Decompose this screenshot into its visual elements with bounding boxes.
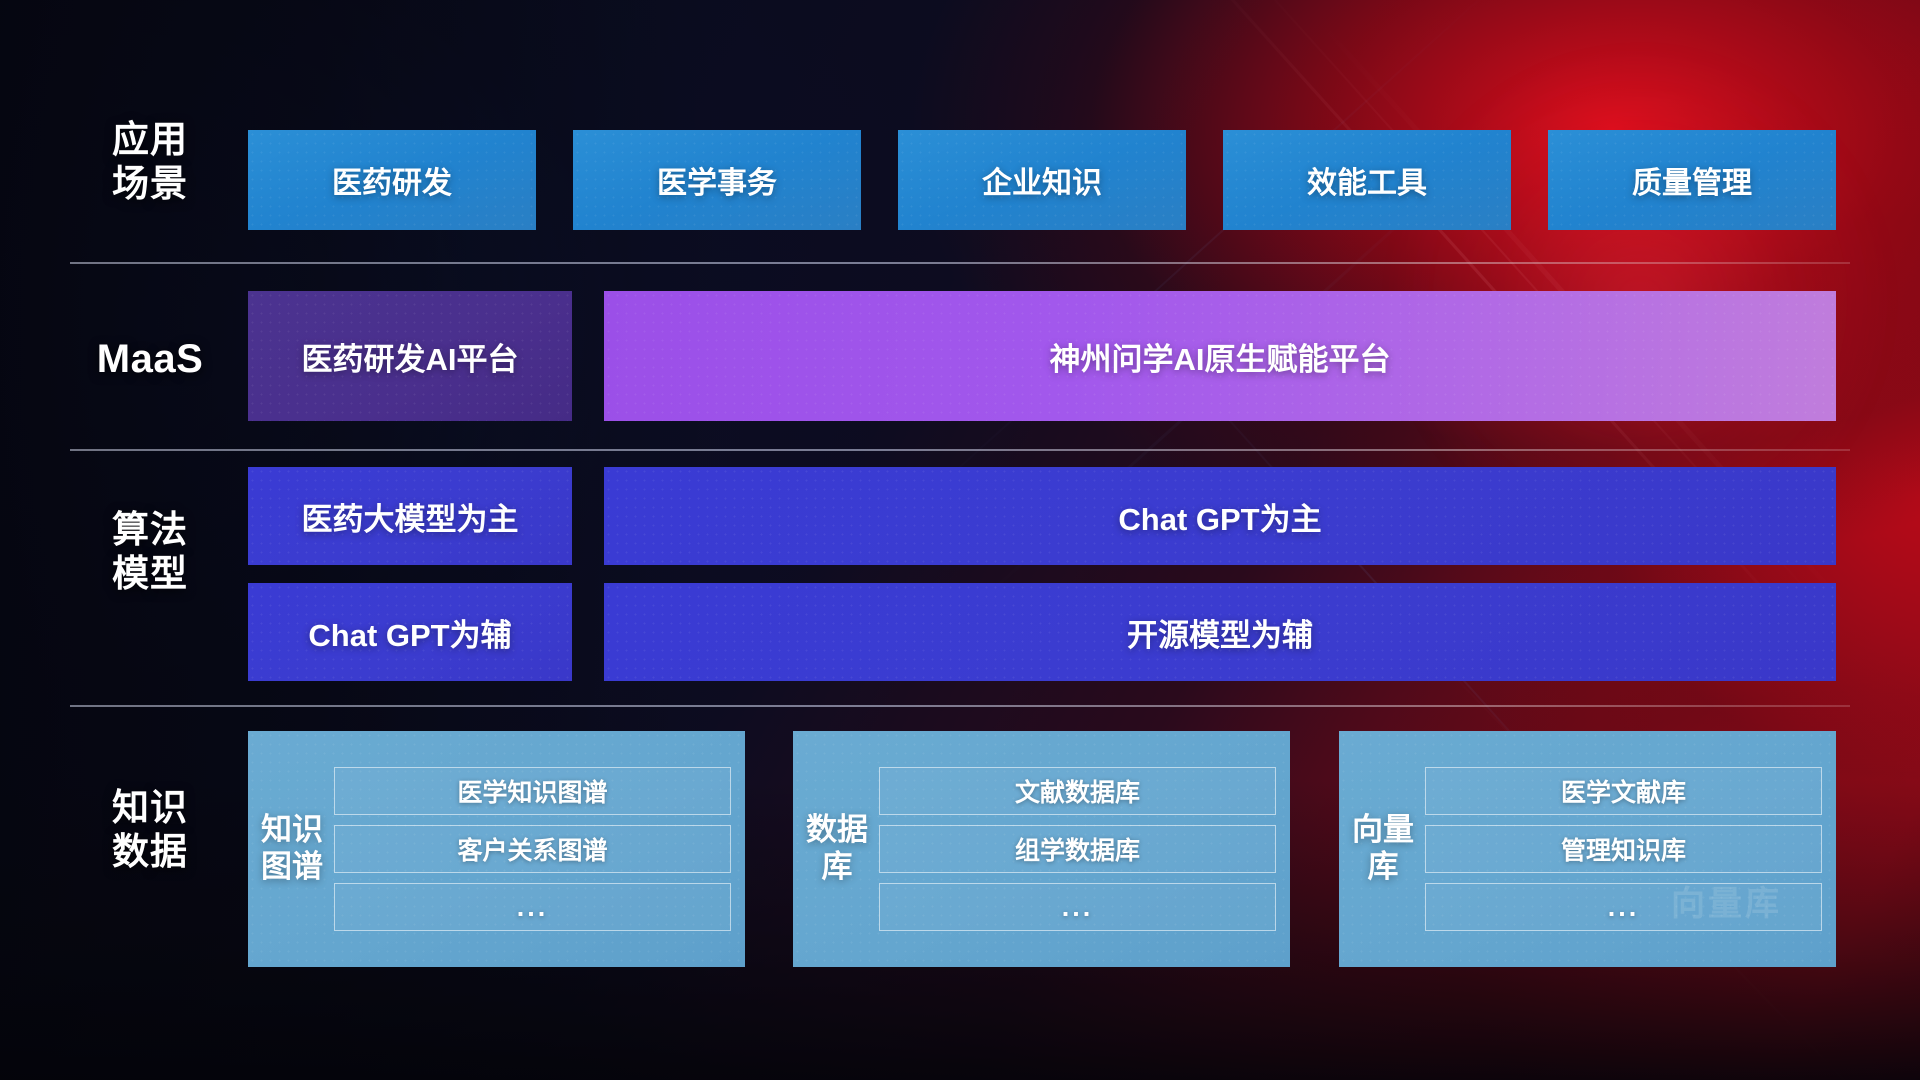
maas-box-label: 医药研发AI平台 xyxy=(302,334,519,379)
knowledge-item-more[interactable]: ... xyxy=(1425,883,1822,931)
row-label-text: MaaS xyxy=(70,336,230,383)
app-box-medical-affairs[interactable]: 医学事务 xyxy=(573,130,861,230)
knowledge-item[interactable]: 医学知识图谱 xyxy=(334,767,731,815)
knowledge-group-item-list: 文献数据库 组学数据库 ... xyxy=(869,767,1290,931)
architecture-diagram: 应用 场景 医药研发 医学事务 企业知识 效能工具 质量管理 xyxy=(0,0,1920,1080)
knowledge-item[interactable]: 客户关系图谱 xyxy=(334,825,731,873)
algo-box-opensource-model-secondary[interactable]: 开源模型为辅 xyxy=(604,583,1836,681)
algo-box-chatgpt-secondary[interactable]: Chat GPT为辅 xyxy=(248,583,572,681)
knowledge-item[interactable]: 文献数据库 xyxy=(879,767,1276,815)
row-label-line-2: 场景 xyxy=(70,162,230,206)
algo-box-label: Chat GPT为辅 xyxy=(308,610,511,655)
knowledge-item-more[interactable]: ... xyxy=(334,883,731,931)
maas-box-medicine-rd-ai-platform[interactable]: 医药研发AI平台 xyxy=(248,291,572,421)
knowledge-group-item-list: 医学文献库 管理知识库 ... xyxy=(1415,767,1836,931)
row-label-line-1: 知识 xyxy=(70,786,230,830)
row-divider-1 xyxy=(70,262,1850,264)
row-divider-2 xyxy=(70,449,1850,451)
algo-box-label: Chat GPT为主 xyxy=(1118,494,1321,539)
app-box-label: 质量管理 xyxy=(1632,158,1752,202)
maas-box-label: 神州问学AI原生赋能平台 xyxy=(1050,334,1391,379)
knowledge-group-side-label: 数据库 xyxy=(805,812,869,885)
app-box-quality-management[interactable]: 质量管理 xyxy=(1548,130,1836,230)
knowledge-group-knowledge-graph[interactable]: 知识图谱 医学知识图谱 客户关系图谱 ... xyxy=(248,731,745,967)
knowledge-group-side-label: 知识图谱 xyxy=(260,812,324,885)
knowledge-item[interactable]: 管理知识库 xyxy=(1425,825,1822,873)
knowledge-item[interactable]: 医学文献库 xyxy=(1425,767,1822,815)
app-box-label: 医学事务 xyxy=(657,158,777,202)
algo-box-medicine-large-model-primary[interactable]: 医药大模型为主 xyxy=(248,467,572,565)
knowledge-item[interactable]: 组学数据库 xyxy=(879,825,1276,873)
maas-box-shenzhou-wenxue-platform[interactable]: 神州问学AI原生赋能平台 xyxy=(604,291,1836,421)
row-label-algorithm-models: 算法 模型 xyxy=(70,508,230,595)
row-label-line-1: 应用 xyxy=(70,118,230,162)
algo-box-label: 开源模型为辅 xyxy=(1127,610,1313,655)
app-box-label: 医药研发 xyxy=(332,158,452,202)
algo-box-label: 医药大模型为主 xyxy=(302,494,519,539)
row-label-line-2: 数据 xyxy=(70,830,230,874)
knowledge-group-database[interactable]: 数据库 文献数据库 组学数据库 ... xyxy=(793,731,1290,967)
row-label-line-2: 模型 xyxy=(70,552,230,596)
row-divider-3 xyxy=(70,705,1850,707)
app-box-label: 企业知识 xyxy=(982,158,1102,202)
app-box-label: 效能工具 xyxy=(1307,158,1427,202)
app-box-efficiency-tools[interactable]: 效能工具 xyxy=(1223,130,1511,230)
row-label-line-1: 算法 xyxy=(70,508,230,552)
row-label-knowledge-data: 知识 数据 xyxy=(70,786,230,873)
row-label-application-scenarios: 应用 场景 xyxy=(70,118,230,205)
knowledge-group-item-list: 医学知识图谱 客户关系图谱 ... xyxy=(324,767,745,931)
knowledge-item-more[interactable]: ... xyxy=(879,883,1276,931)
knowledge-group-vector-store[interactable]: 向量库 向量库 医学文献库 管理知识库 ... xyxy=(1339,731,1836,967)
row-label-maas: MaaS xyxy=(70,336,230,383)
app-box-enterprise-knowledge[interactable]: 企业知识 xyxy=(898,130,1186,230)
knowledge-group-side-label: 向量库 xyxy=(1351,812,1415,885)
app-box-medicine-rd[interactable]: 医药研发 xyxy=(248,130,536,230)
algo-box-chatgpt-primary[interactable]: Chat GPT为主 xyxy=(604,467,1836,565)
slide-canvas: 应用 场景 医药研发 医学事务 企业知识 效能工具 质量管理 xyxy=(0,0,1920,1080)
